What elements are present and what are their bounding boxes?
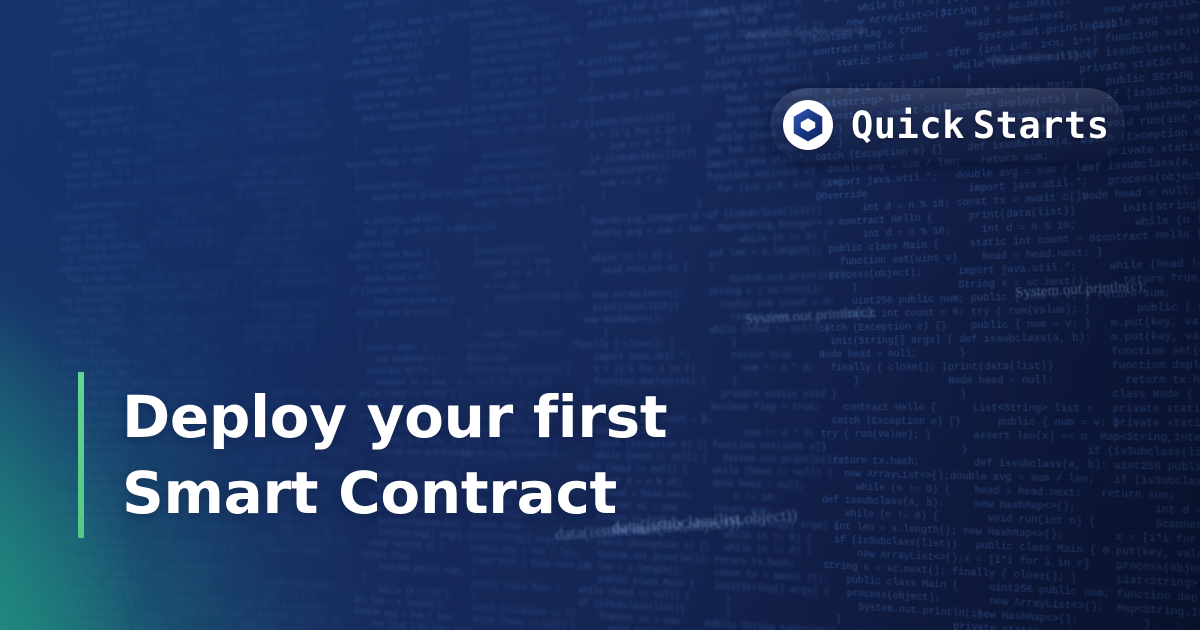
chainlink-hexagon-icon [783, 100, 833, 150]
page-title-line-1: Deploy your first [122, 379, 667, 455]
quickstarts-badge[interactable]: QuickStarts [770, 88, 1125, 162]
badge-label-starts: Starts [973, 104, 1110, 147]
badge-label: QuickStarts [851, 104, 1110, 147]
page-title: Deploy your first Smart Contract [122, 372, 667, 538]
headline-block: Deploy your first Smart Contract [78, 372, 667, 538]
badge-label-quick: Quick [851, 104, 965, 147]
quickstarts-banner: { return name; } finally { close(); } cl… [0, 0, 1200, 630]
accent-bar [78, 372, 84, 538]
page-title-line-2: Smart Contract [122, 455, 667, 531]
